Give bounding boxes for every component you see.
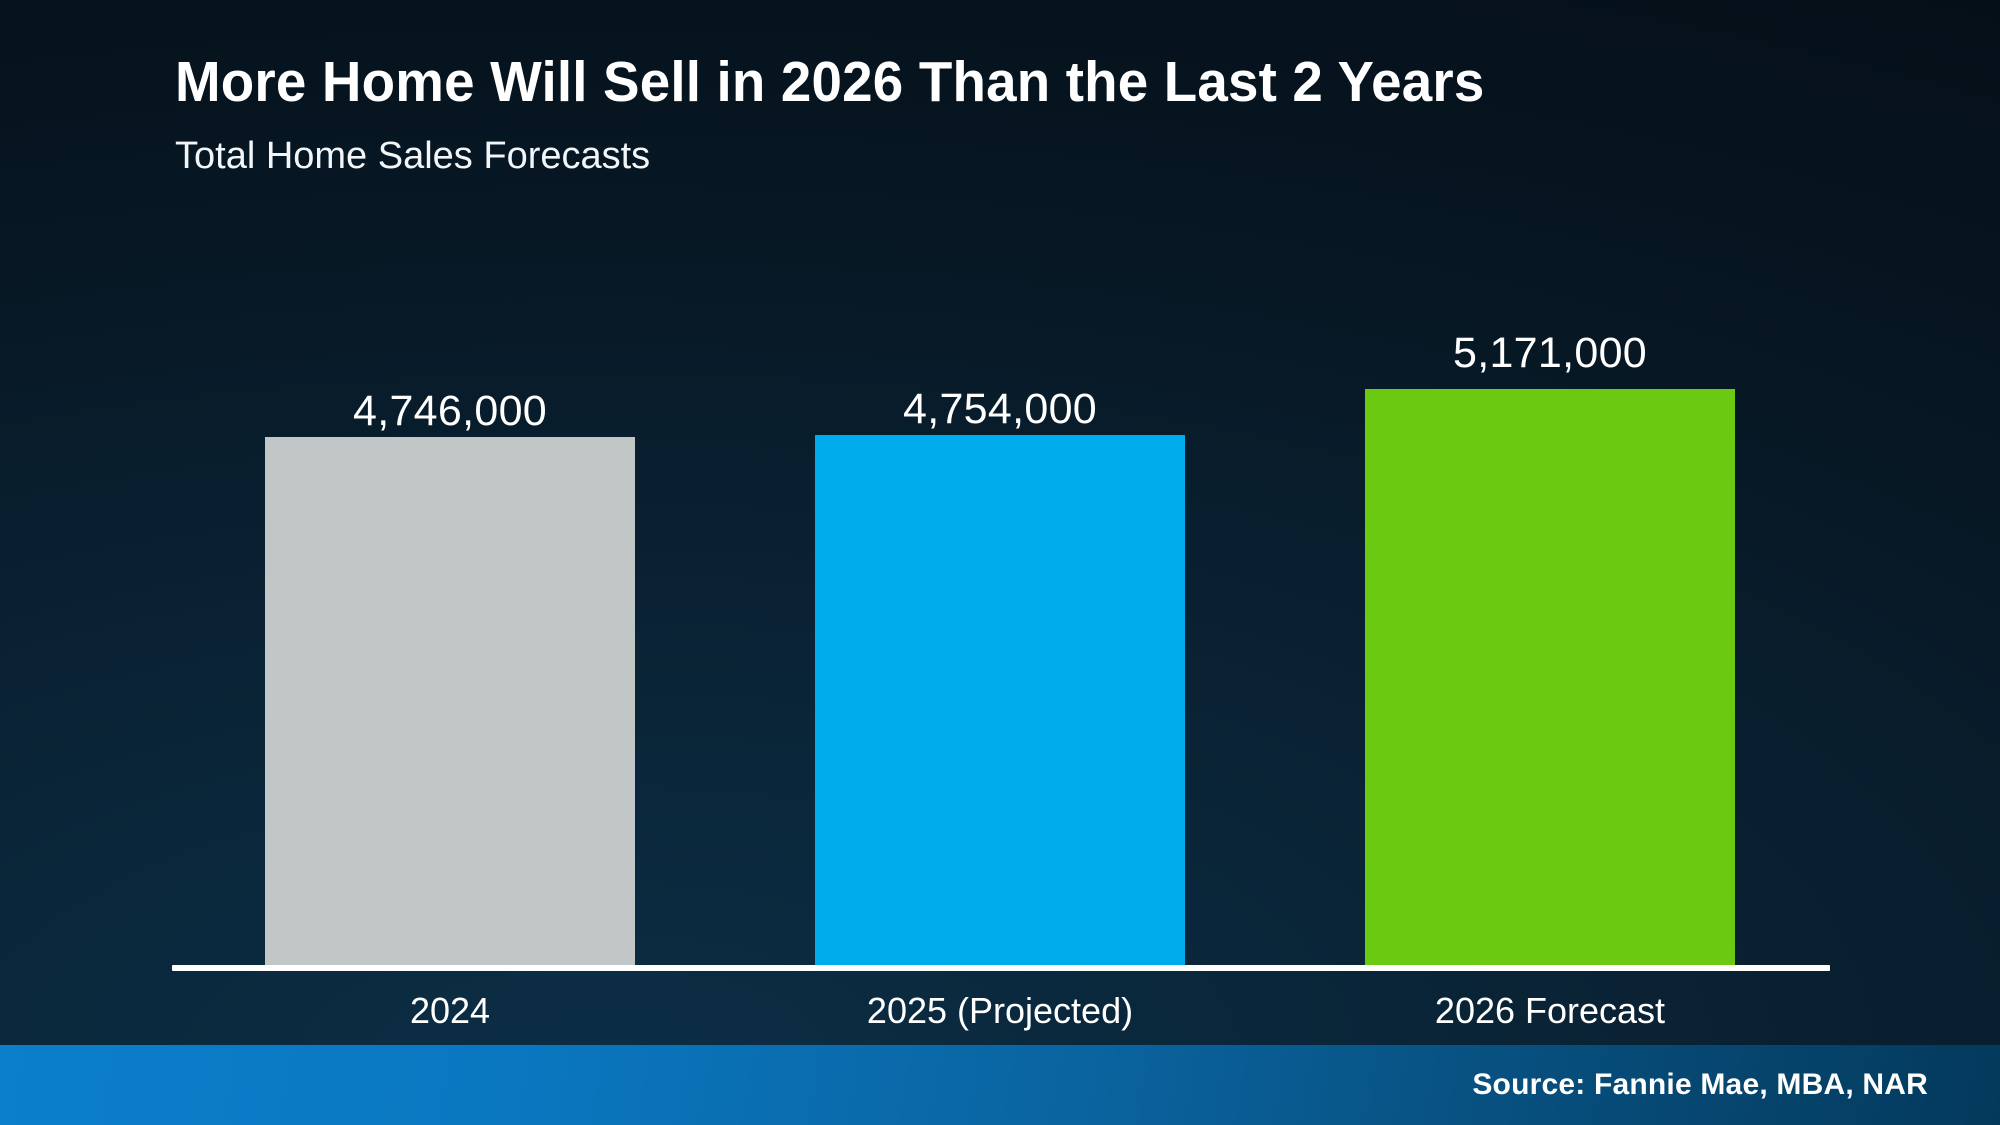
bar-group-2025-projected: 4,754,000 2025 (Projected) [815,0,1185,1125]
bar-2025-projected[interactable] [815,435,1185,967]
source-attribution: Source: Fannie Mae, MBA, NAR [1472,1068,1928,1102]
bar-group-2026-forecast: 5,171,000 2026 Forecast [1365,0,1735,1125]
bar-category-label: 2026 Forecast [1325,990,1775,1032]
bar-value-label: 4,746,000 [265,390,635,433]
bar-value-label: 5,171,000 [1365,332,1735,375]
bar-category-label: 2024 [225,990,675,1032]
bar-2024[interactable] [265,437,635,967]
bar-value-label: 4,754,000 [815,388,1185,431]
bar-group-2024: 4,746,000 2024 [265,0,635,1125]
slide-canvas: More Home Will Sell in 2026 Than the Las… [0,0,2000,1125]
bar-2026-forecast[interactable] [1365,389,1735,967]
bar-chart-plot-area: 4,746,000 2024 4,754,000 2025 (Projected… [0,0,2000,1125]
footer-bar: Source: Fannie Mae, MBA, NAR [0,1045,2000,1125]
x-axis-baseline [172,965,1830,971]
bar-category-label: 2025 (Projected) [775,990,1225,1032]
